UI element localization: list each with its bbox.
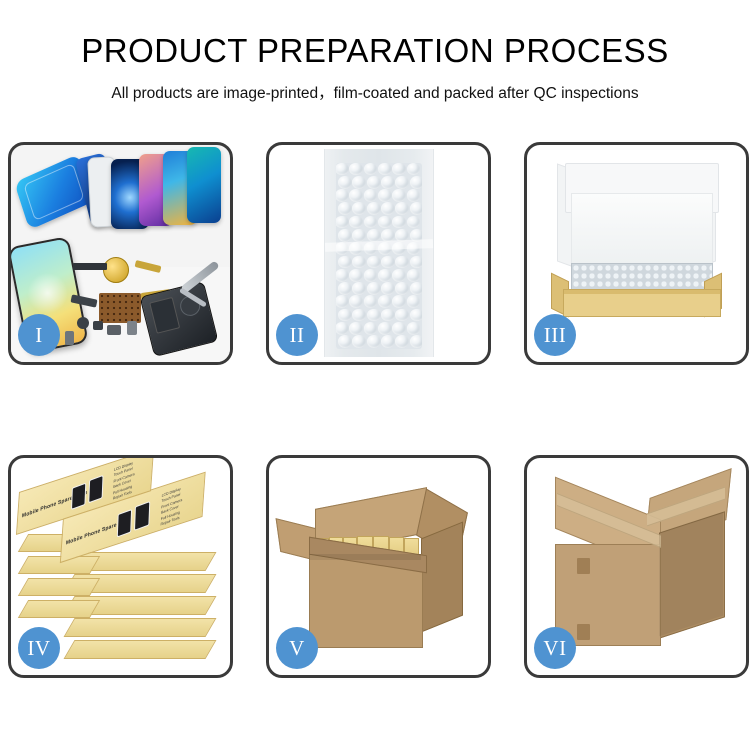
bubble [349, 216, 363, 229]
carton-front-panel [555, 544, 661, 646]
bubble [395, 282, 409, 295]
bubble [367, 282, 381, 295]
bubble [336, 163, 349, 175]
bubble [336, 295, 349, 308]
bubble [352, 256, 366, 269]
box-checklist-text: LCD DisplayTouch PanelFront CameraBack C… [113, 460, 135, 502]
bubble [395, 335, 409, 348]
bubble [349, 163, 363, 175]
bubble [392, 269, 406, 282]
bubble [381, 176, 395, 189]
bubble [364, 216, 378, 229]
bubble-wrap-sheet [324, 149, 434, 357]
bubble [392, 163, 406, 175]
foam-sheet [571, 193, 713, 265]
process-steps-grid: I II III [8, 142, 742, 678]
box-checklist-text: LCD DisplayTouch PanelFront CameraBack C… [160, 486, 182, 528]
carton-side-panel [421, 522, 463, 633]
bubble [381, 202, 395, 215]
bubble [407, 295, 421, 308]
bubble [338, 229, 352, 242]
bubble [381, 282, 395, 295]
bubble [378, 269, 392, 282]
step-badge-3: III [534, 314, 576, 356]
bubble [336, 216, 349, 229]
bubble [407, 269, 421, 282]
bubble [364, 189, 378, 202]
bubble [378, 189, 392, 202]
step-badge-4: IV [18, 627, 60, 669]
bubble [352, 202, 366, 215]
carton-tab [577, 558, 590, 574]
bubble [381, 335, 395, 348]
button-part-icon [77, 317, 89, 329]
bubble [352, 282, 366, 295]
bubble [367, 202, 381, 215]
step-badge-6: VI [534, 627, 576, 669]
step-card-6: VI [524, 455, 749, 678]
coil-part-icon [103, 257, 129, 283]
bubble [378, 216, 392, 229]
bubble [364, 163, 378, 175]
carton-tab [577, 624, 590, 640]
step-badge-2: II [276, 314, 318, 356]
bubble [352, 229, 366, 242]
bubble [336, 189, 349, 202]
bubble [395, 256, 409, 269]
bubble [410, 202, 422, 215]
bubble [410, 309, 422, 322]
bubble [407, 216, 421, 229]
bubble [338, 256, 352, 269]
bubble [392, 322, 406, 335]
bubble [367, 256, 381, 269]
bubble [336, 269, 349, 282]
bubble [381, 256, 395, 269]
step-card-5: V [266, 455, 491, 678]
bubble [367, 229, 381, 242]
bubble [407, 189, 421, 202]
bubble [367, 335, 381, 348]
bubble [378, 295, 392, 308]
bubble [338, 176, 352, 189]
bubble [352, 309, 366, 322]
bubble-grid [336, 163, 422, 349]
page-title: PRODUCT PREPARATION PROCESS [0, 34, 750, 69]
bubble [392, 189, 406, 202]
bubble [367, 309, 381, 322]
bubble-wrapped-item [571, 263, 713, 291]
bubble [364, 295, 378, 308]
bubble [407, 163, 421, 175]
sim-tray-icon [127, 321, 137, 335]
bubble [410, 282, 422, 295]
bubble [378, 322, 392, 335]
bubble [349, 295, 363, 308]
bubble [378, 163, 392, 175]
step-card-1: I [8, 142, 233, 365]
screw-tray-icon [99, 293, 141, 323]
bubble [352, 335, 366, 348]
bubble [410, 176, 422, 189]
bubble [349, 269, 363, 282]
bubble [338, 309, 352, 322]
bubble [338, 335, 352, 348]
bubble [395, 202, 409, 215]
step-card-4: Mobile Phone Spare Parts LCD DisplayTouc… [8, 455, 233, 678]
bubble [338, 202, 352, 215]
speaker-part-icon [73, 263, 107, 270]
bubble [352, 176, 366, 189]
connector-part-icon [65, 331, 74, 345]
phone-display-icon [187, 147, 221, 223]
bubble [395, 309, 409, 322]
camera-part-icon [93, 321, 103, 330]
bubble [410, 256, 422, 269]
box-front-panel [563, 289, 721, 317]
bubble [410, 335, 422, 348]
product-preparation-page: PRODUCT PREPARATION PROCESS All products… [0, 0, 750, 750]
step-card-3: III [524, 142, 749, 365]
bubble [364, 322, 378, 335]
bubble [392, 295, 406, 308]
step-badge-5: V [276, 627, 318, 669]
bubble [407, 322, 421, 335]
bubble [336, 322, 349, 335]
step-badge-1: I [18, 314, 60, 356]
bubble [367, 176, 381, 189]
page-header: PRODUCT PREPARATION PROCESS All products… [0, 0, 750, 103]
page-subtitle: All products are image-printed，film-coat… [0, 81, 750, 103]
step-card-2: II [266, 142, 491, 365]
bubble [392, 216, 406, 229]
battery-part-icon [107, 325, 121, 335]
bubble [349, 189, 363, 202]
bubble [381, 309, 395, 322]
bubble [395, 176, 409, 189]
bubble [349, 322, 363, 335]
bubble [364, 269, 378, 282]
bubble [338, 282, 352, 295]
